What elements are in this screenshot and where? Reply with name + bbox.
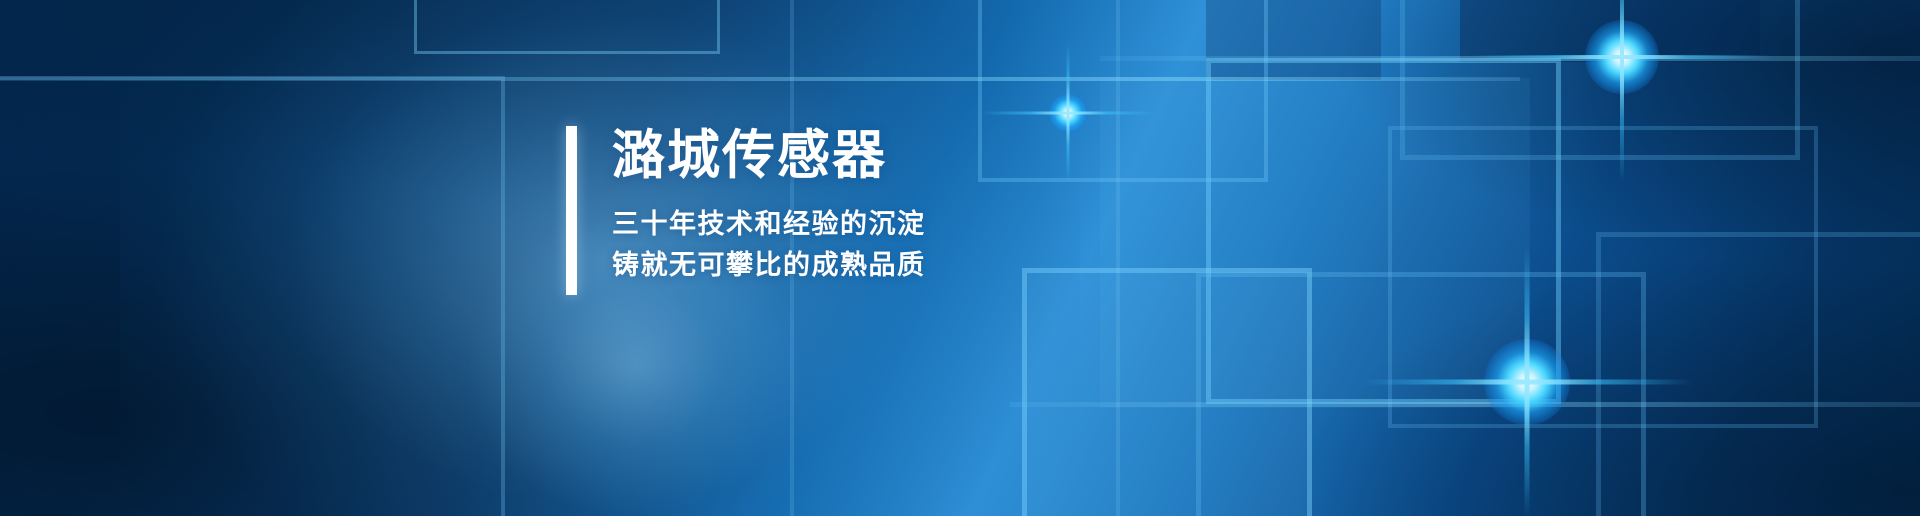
banner-text-block: 潞城传感器 三十年技术和经验的沉淀 铸就无可攀比的成熟品质 xyxy=(566,126,926,295)
background-vignette xyxy=(0,0,1920,516)
banner-text-column: 潞城传感器 三十年技术和经验的沉淀 铸就无可攀比的成熟品质 xyxy=(612,126,926,295)
white-vertical-accent-bar xyxy=(566,126,577,295)
hero-banner: 潞城传感器 三十年技术和经验的沉淀 铸就无可攀比的成熟品质 xyxy=(0,0,1920,516)
banner-subtitle-line-2: 铸就无可攀比的成熟品质 xyxy=(612,245,926,286)
banner-title: 潞城传感器 xyxy=(612,128,926,184)
banner-subtitle-line-1: 三十年技术和经验的沉淀 xyxy=(612,204,926,245)
